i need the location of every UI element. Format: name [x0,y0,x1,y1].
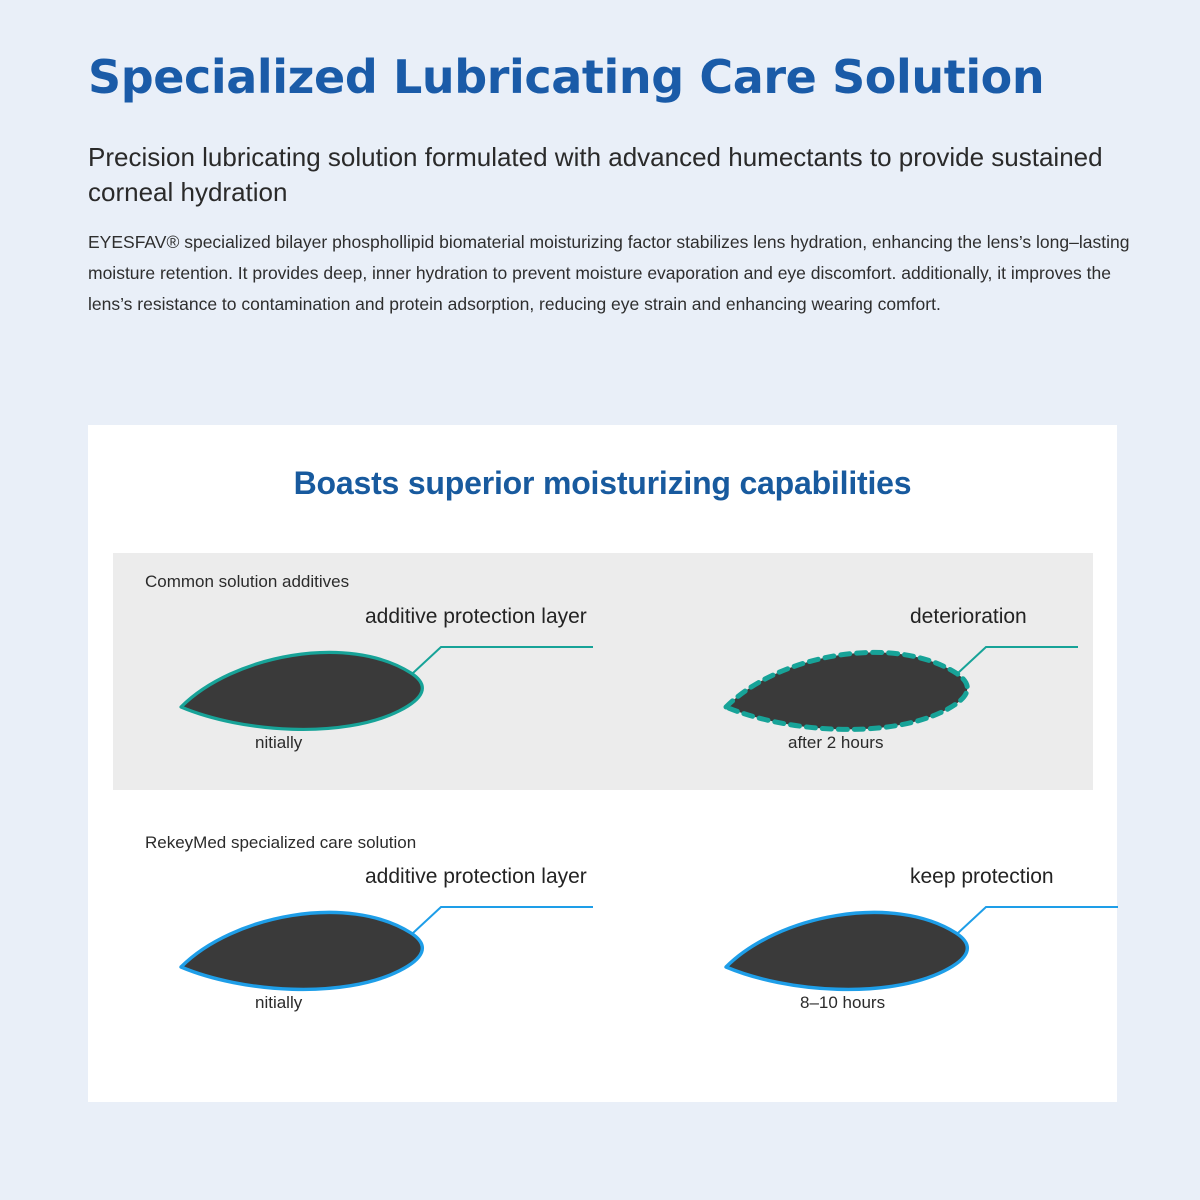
lens-figure-rekeymed-initial: additive protection layer nitially [173,875,593,1055]
lens-figure-common-initial: additive protection layer nitially [173,615,593,795]
callout-leader-line [413,907,593,933]
lens-body-shape [181,912,422,989]
section-rekeymed-solution: RekeyMed specialized care solution addit… [113,815,1093,1100]
section-label-common: Common solution additives [145,572,349,592]
lens-figure-common-after-2-hours: deterioration after 2 hours [718,615,1138,795]
callout-leader-line [413,647,593,673]
product-info-page: Specialized Lubricating Care Solution Pr… [0,0,1200,1200]
page-title: Specialized Lubricating Care Solution [88,52,1128,103]
lens-body-shape [181,652,422,729]
page-subtitle: Precision lubricating solution formulate… [88,140,1144,209]
figure-caption: after 2 hours [788,733,883,753]
page-description: EYESFAV® specialized bilayer phosphollip… [88,227,1144,320]
lens-diagram-svg [718,875,1138,1055]
callout-leader-line [958,907,1118,933]
callout-leader-line [958,647,1078,673]
section-common-additives: Common solution additives additive prote… [113,553,1093,790]
callout-label: keep protection [910,865,1054,889]
card-title: Boasts superior moisturizing capabilitie… [88,465,1117,502]
section-label-rekeymed: RekeyMed specialized care solution [145,833,416,853]
figure-caption: nitially [255,733,302,753]
comparison-card: Boasts superior moisturizing capabilitie… [88,425,1117,1102]
callout-label: deterioration [910,605,1027,629]
figure-caption: 8–10 hours [800,993,885,1013]
lens-figure-rekeymed-8-10-hours: keep protection 8–10 hours [718,875,1138,1055]
lens-diagram-svg [173,875,593,1055]
lens-diagram-svg [718,615,1138,795]
callout-label: additive protection layer [365,605,587,629]
lens-diagram-svg [173,615,593,795]
lens-body-shape-deteriorated [726,652,967,729]
figure-caption: nitially [255,993,302,1013]
lens-body-shape [726,912,967,989]
callout-label: additive protection layer [365,865,587,889]
